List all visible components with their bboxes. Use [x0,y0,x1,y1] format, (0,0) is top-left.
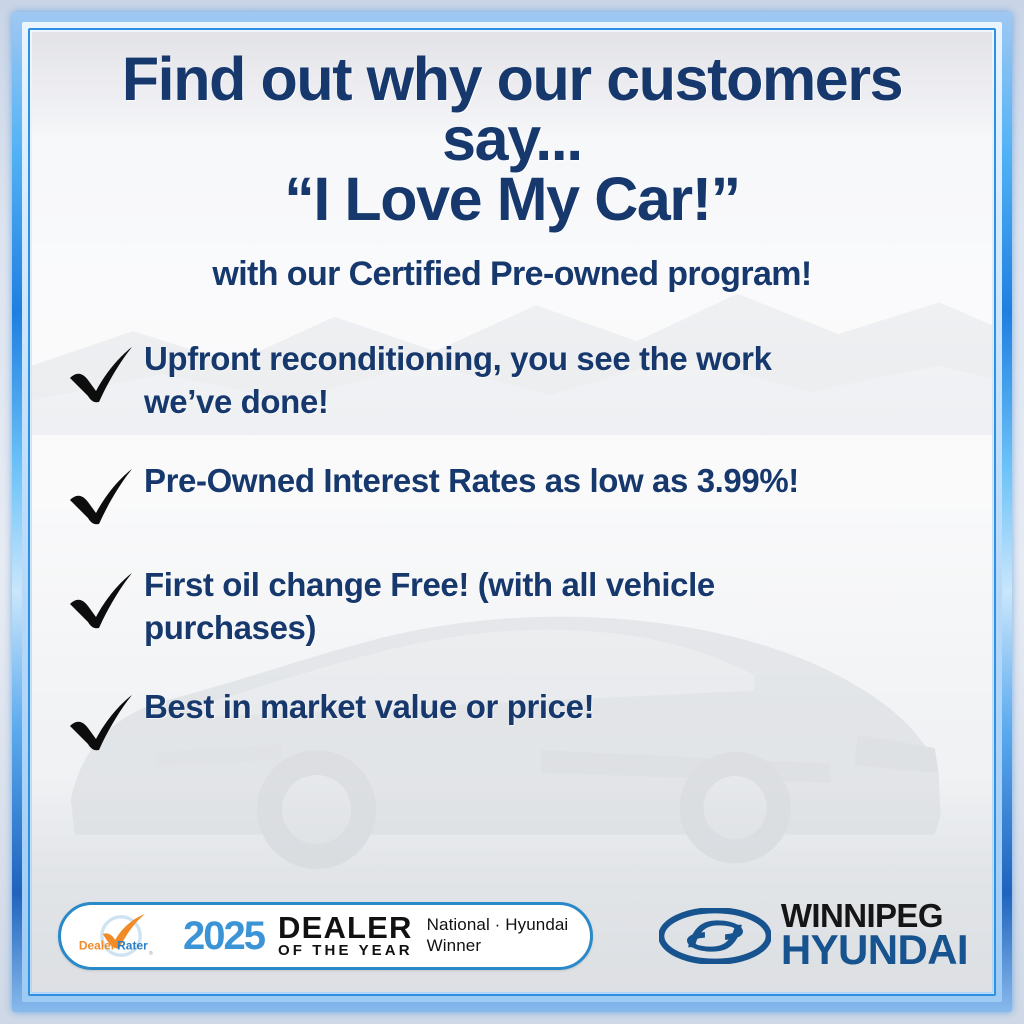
list-item: Best in market value or price! [66,686,962,754]
list-item: Pre-Owned Interest Rates as low as 3.99%… [66,460,962,528]
award-year: 2025 [183,916,264,956]
poster-footer: Dealer Rater ® 2025 DEALER OF THE YEAR N… [58,901,968,970]
dealership-name: WINNIPEG HYUNDAI [781,901,968,970]
award-winner-detail: National · Hyundai Winner [427,915,569,956]
checkmark-icon [66,570,138,632]
award-winner-line-2: Winner [427,936,569,956]
svg-text:Dealer: Dealer [79,938,116,952]
award-winner-line-1: National · Hyundai [427,915,569,935]
poster-canvas: Find out why our customers say... “I Lov… [32,32,992,992]
dealership-brand: HYUNDAI [781,931,968,970]
headline-line-3: “I Love My Car!” [50,170,974,230]
svg-text:®: ® [149,950,154,957]
headline-line-2: say... [50,110,974,170]
poster-content: Find out why our customers say... “I Lov… [32,32,992,992]
checkmark-icon [66,344,138,406]
dealerrater-logo-icon: Dealer Rater ® [73,913,169,959]
svg-text:Rater: Rater [117,938,148,952]
list-item-label: Upfront reconditioning, you see the work… [144,338,844,424]
award-title: DEALER OF THE YEAR [278,912,413,960]
award-dealer-word: DEALER [278,912,413,943]
checkmark-icon [66,692,138,754]
page-title: Find out why our customers say... “I Lov… [50,50,974,229]
subheadline: with our Certified Pre-owned program! [52,255,972,294]
dealer-of-the-year-badge: Dealer Rater ® 2025 DEALER OF THE YEAR N… [58,902,593,970]
dealership-branding: WINNIPEG HYUNDAI [607,901,968,970]
award-of-the-year: OF THE YEAR [278,943,413,960]
list-item: Upfront reconditioning, you see the work… [66,338,962,424]
list-item: First oil change Free! (with all vehicle… [66,564,962,650]
checkmark-icon [66,466,138,528]
list-item-label: Pre-Owned Interest Rates as low as 3.99%… [144,460,799,503]
list-item-label: Best in market value or price! [144,686,594,729]
benefits-list: Upfront reconditioning, you see the work… [66,338,962,901]
list-item-label: First oil change Free! (with all vehicle… [144,564,844,650]
headline-line-1: Find out why our customers [122,45,902,113]
hyundai-logo-icon [659,908,771,964]
promo-poster: Find out why our customers say... “I Lov… [0,0,1024,1024]
